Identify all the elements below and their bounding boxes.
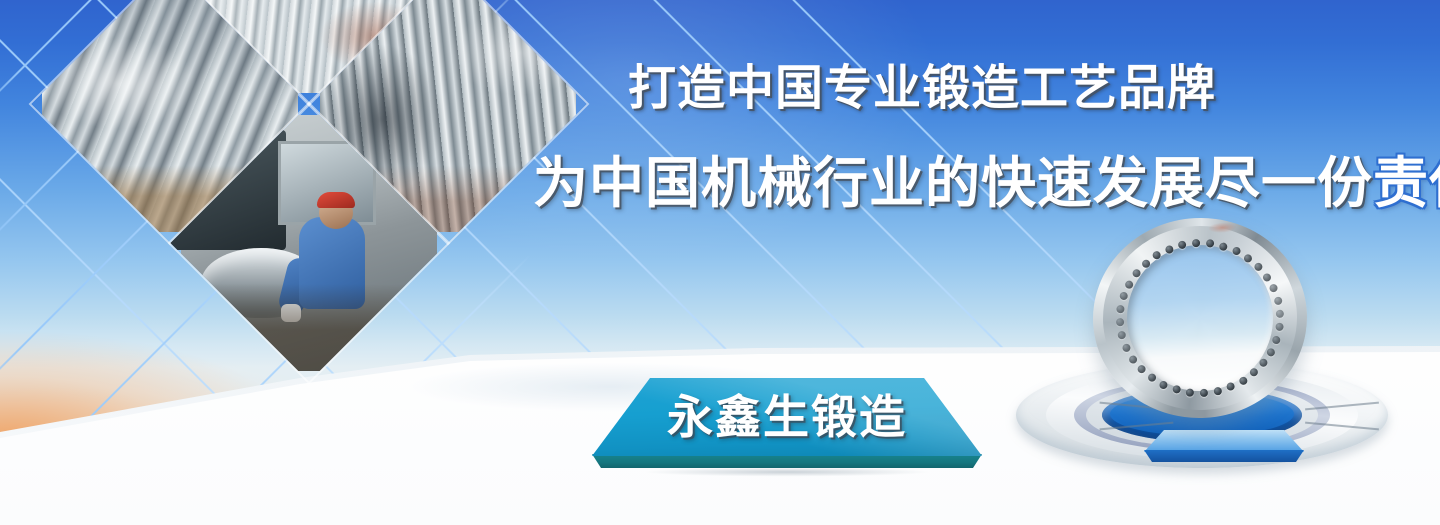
flange-bolt-hole bbox=[1275, 323, 1283, 331]
flange-bolt-hole bbox=[1267, 348, 1275, 356]
flange-bolt-hole bbox=[1141, 259, 1149, 267]
flange-bolt-hole bbox=[1272, 335, 1280, 343]
flange-ring-product bbox=[1088, 213, 1312, 424]
brand-plaque[interactable]: 永鑫生锻造 bbox=[592, 378, 982, 474]
diamond-photo-collage bbox=[72, 6, 452, 386]
flange-bolt-hole bbox=[1132, 269, 1140, 277]
flange-bolt-hole bbox=[1214, 387, 1222, 395]
headline-line-2-main: 为中国机械行业的快速发展尽一份 bbox=[533, 151, 1373, 215]
flange-bolt-hole bbox=[1165, 245, 1173, 253]
headline-line-2: 为中国机械行业的快速发展尽一份责任 bbox=[533, 152, 1440, 214]
glass-step bbox=[1144, 430, 1304, 464]
headline-line-1: 打造中国专业锻造工艺品牌 bbox=[628, 62, 1216, 114]
flange-bolt-hole bbox=[1274, 297, 1282, 305]
plaque-edge bbox=[592, 454, 982, 468]
flange-bolt-hole bbox=[1263, 273, 1271, 281]
promo-banner: 打造中国专业锻造工艺品牌 为中国机械行业的快速发展尽一份责任 永鑫生锻造 bbox=[0, 0, 1440, 525]
headline-line-2-accent: 责任 bbox=[1373, 151, 1440, 215]
flange-bolt-hole bbox=[1122, 343, 1130, 351]
flange-bolt-hole bbox=[1129, 355, 1137, 363]
flange-bolt-hole bbox=[1125, 280, 1133, 288]
plaque-label: 永鑫生锻造 bbox=[592, 388, 982, 446]
